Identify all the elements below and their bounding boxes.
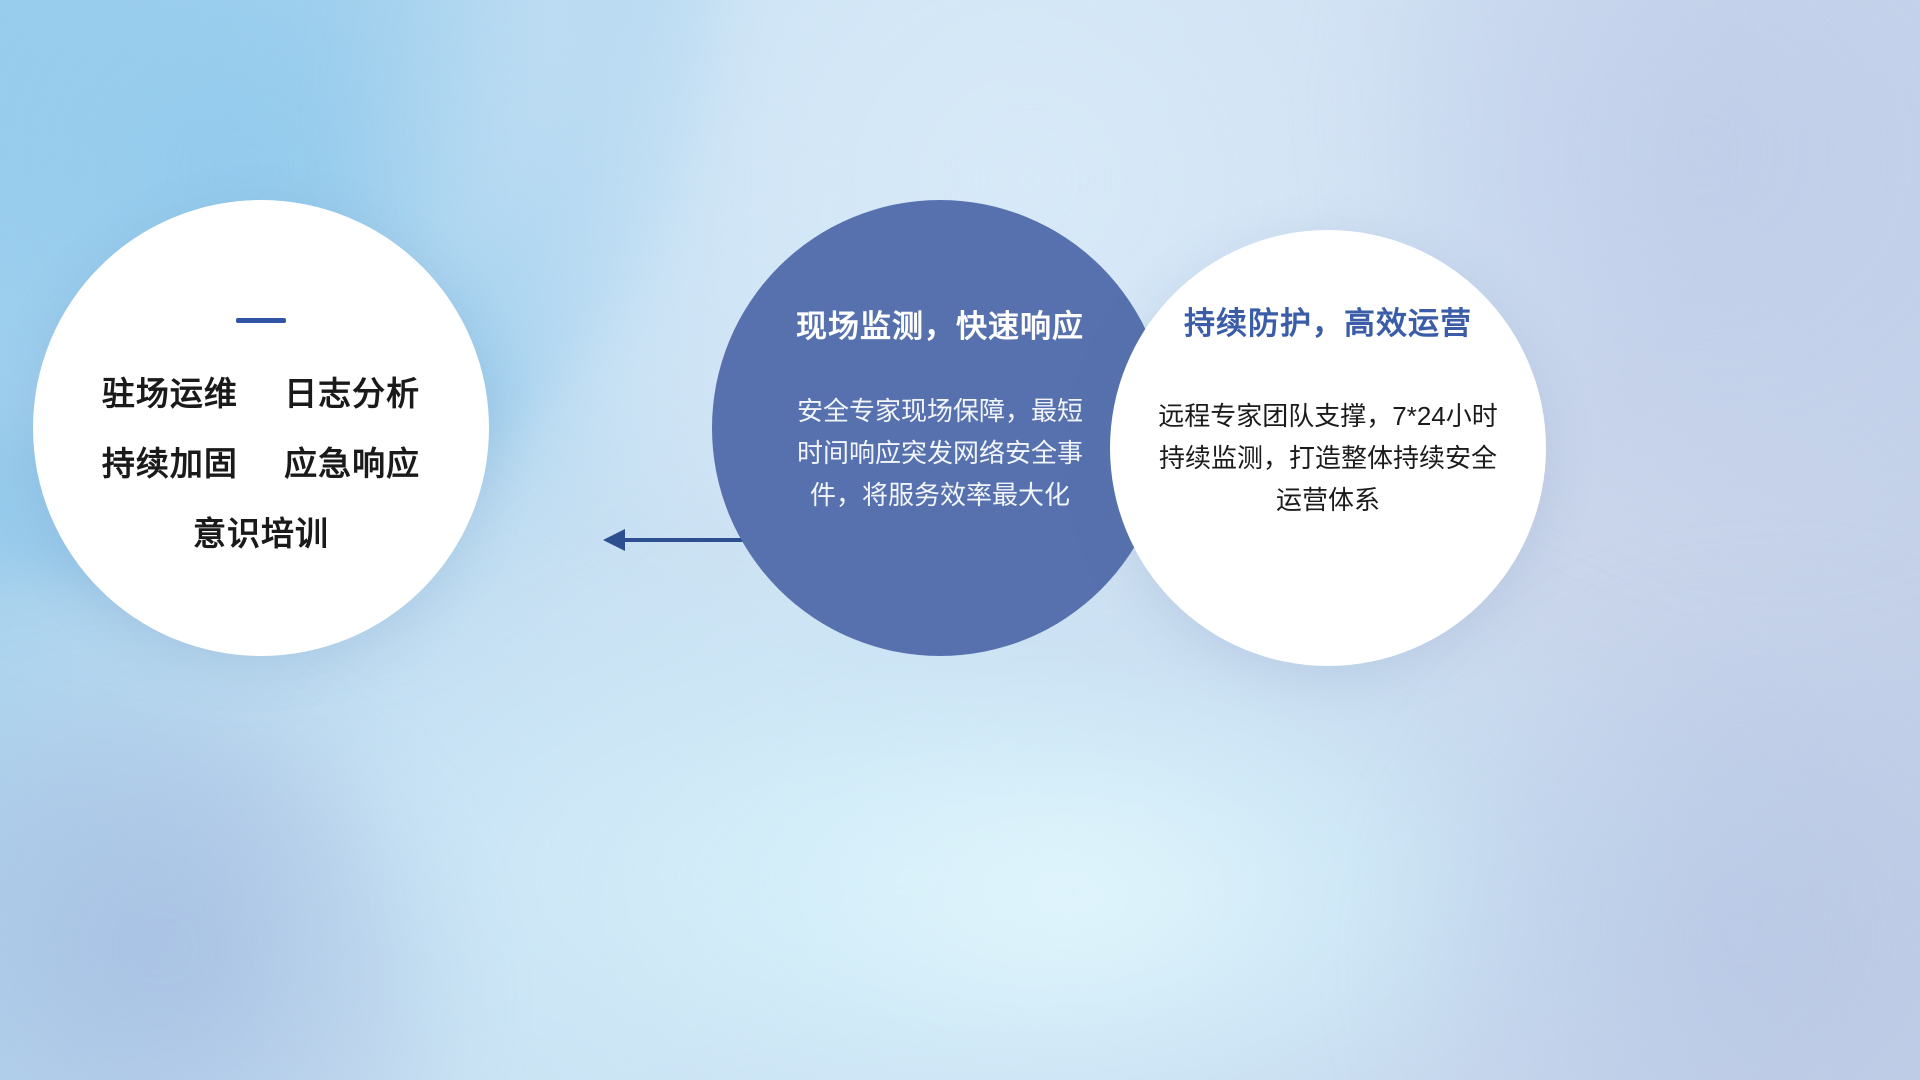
continuous-protection-circle: 持续防护，高效运营 远程专家团队支撑，7*24小时持续监测，打造整体持续安全运营… [1110,230,1546,666]
capability-label: 应急响应 [284,445,420,482]
capability-row: 驻场运维 日志分析 [102,367,420,415]
capability-label: 驻场运维 [102,375,238,412]
continuous-body: 远程专家团队支撑，7*24小时持续监测，打造整体持续安全运营体系 [1148,395,1508,521]
capability-label: 日志分析 [284,375,420,412]
onsite-body: 安全专家现场保障，最短时间响应突发网络安全事件，将服务效率最大化 [790,390,1090,516]
capability-label: 意识培训 [193,515,329,552]
continuous-title: 持续防护，高效运营 [1184,298,1472,343]
capability-label: 持续加固 [102,445,238,482]
divider-dash [236,318,286,323]
onsite-monitoring-circle: 现场监测，快速响应 安全专家现场保障，最短时间响应突发网络安全事件，将服务效率最… [712,200,1168,656]
capability-row: 意识培训 [193,507,329,555]
capability-row: 持续加固 应急响应 [102,437,420,485]
onsite-title: 现场监测，快速响应 [796,301,1084,346]
capabilities-circle: 驻场运维 日志分析 持续加固 应急响应 意识培训 [33,200,489,656]
